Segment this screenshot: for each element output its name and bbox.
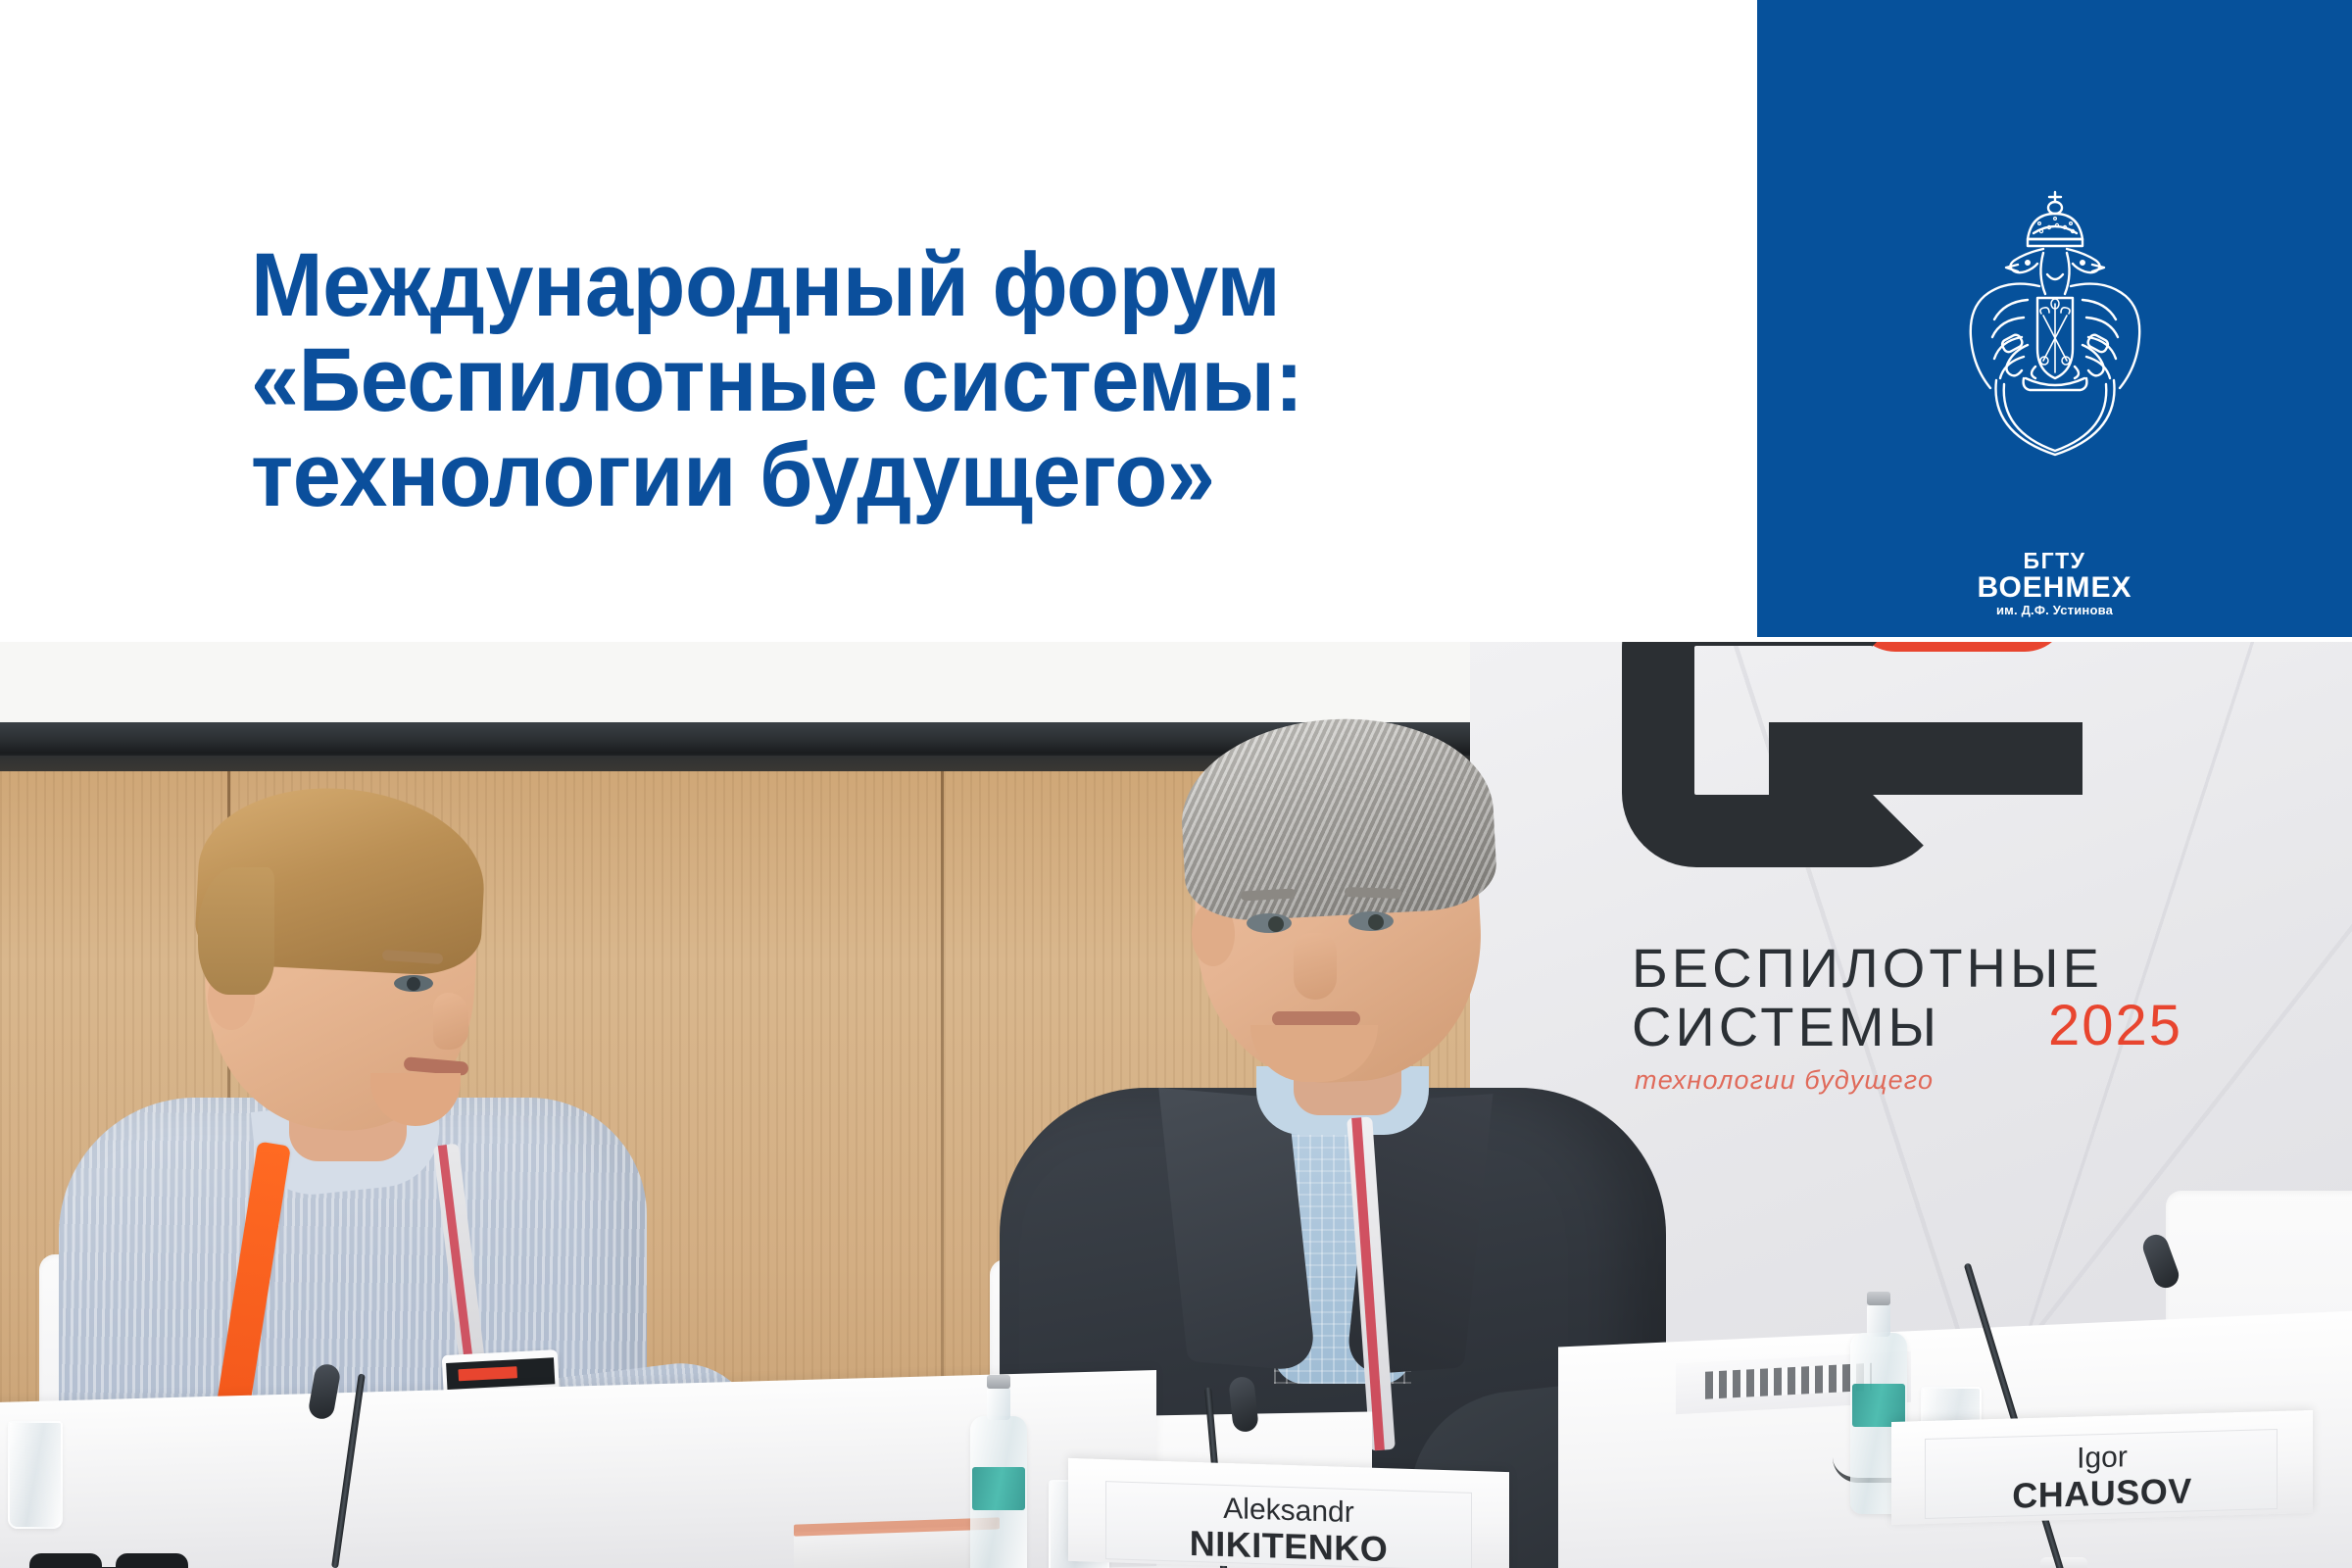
nameplate-chausov: Igor CHAUSOV xyxy=(1891,1410,2313,1525)
nameplate-text: Aleksandr NIKITENKO xyxy=(1068,1488,1509,1568)
emblem-caption-line-2: ВОЕНМЕХ xyxy=(1757,573,2352,604)
logo-panel: БГТУ ВОЕНМЕХ им. Д.Ф. Устинова xyxy=(1757,0,2352,637)
gooseneck-microphone xyxy=(314,1372,353,1568)
nose xyxy=(433,993,468,1050)
title-line-3: технологии будущего» xyxy=(251,428,1615,523)
nose xyxy=(1294,933,1337,1000)
water-bottle xyxy=(970,1416,1027,1568)
bottle-label xyxy=(1852,1384,1905,1427)
eye-left xyxy=(1247,913,1292,933)
page-title: Международный форум «Беспилотные системы… xyxy=(251,238,1672,523)
backdrop-logo-bar xyxy=(1769,722,2082,795)
mouth xyxy=(1272,1011,1360,1026)
lens-right xyxy=(116,1553,188,1568)
lens-left xyxy=(29,1553,102,1568)
eyeglasses-icon xyxy=(29,1553,206,1568)
backdrop-logo-icon xyxy=(1622,642,2082,897)
emblem-caption-line-3: им. Д.Ф. Устинова xyxy=(1757,603,2352,619)
badge-header-strip xyxy=(446,1357,555,1390)
backdrop-text-line-1: БЕСПИЛОТНЫЕ xyxy=(1632,936,2103,1000)
conference-photo: БЕСПИЛОТНЫЕ СИСТЕМЫ 2025 технологии буду… xyxy=(0,642,2352,1568)
title-line-1: Международный форум xyxy=(251,238,1615,333)
title-line-2: «Беспилотные системы: xyxy=(251,333,1615,428)
notebook xyxy=(794,1525,1000,1568)
mic-base xyxy=(2040,1557,2087,1568)
hair-side xyxy=(198,867,274,995)
eyebrow-right xyxy=(1345,887,1401,899)
gooseneck-microphone xyxy=(2058,1249,2117,1568)
eye-right xyxy=(1348,911,1394,931)
emblem-caption-line-1: БГТУ xyxy=(1757,550,2352,572)
backdrop-year: 2025 xyxy=(2048,993,2182,1058)
double-headed-eagle-emblem-icon xyxy=(1937,184,2173,478)
drinking-glass xyxy=(8,1421,63,1529)
eye xyxy=(394,975,433,992)
nameplate-nikitenko: Aleksandr NIKITENKO xyxy=(1068,1458,1509,1568)
emblem-caption: БГТУ ВОЕНМЕХ им. Д.Ф. Устинова xyxy=(1757,550,2352,619)
bottle-label xyxy=(972,1467,1025,1510)
nameplate-text: Igor CHAUSOV xyxy=(1891,1436,2313,1519)
forum-poster: Международный форум «Беспилотные системы… xyxy=(0,0,2352,1568)
hair xyxy=(1177,711,1498,923)
